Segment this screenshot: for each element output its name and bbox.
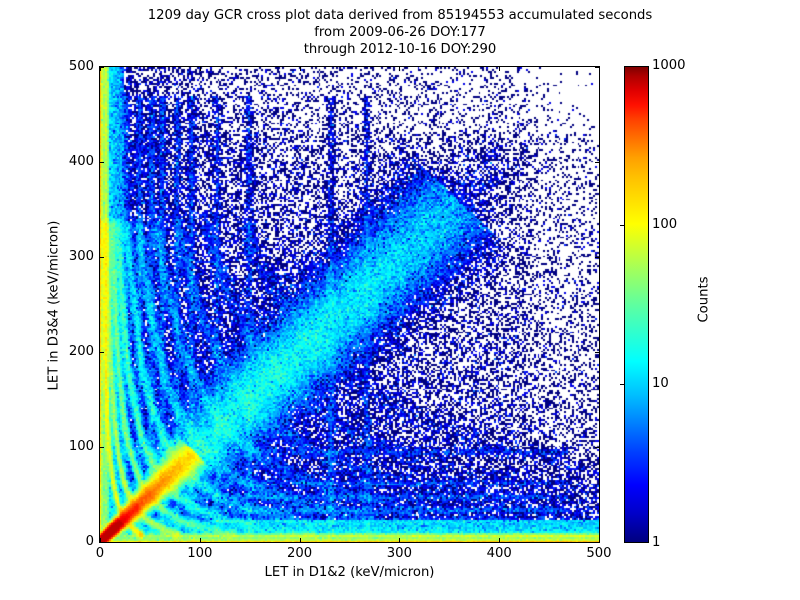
x-tick-label: 100	[170, 546, 230, 561]
x-tick-top	[499, 67, 500, 71]
x-tick-label: 300	[369, 546, 429, 561]
x-tick-bottom	[300, 538, 301, 542]
colorbar-title: Counts	[697, 180, 712, 420]
y-tick-right	[595, 257, 599, 258]
colorbar	[624, 66, 649, 543]
y-tick-left	[100, 447, 104, 448]
chart-title-line-1: 1209 day GCR cross plot data derived fro…	[0, 7, 800, 24]
x-tick-top	[200, 67, 201, 71]
x-axis-title: LET in D1&2 (keV/micron)	[99, 565, 600, 580]
chart-title-line-3: through 2012-10-16 DOY:290	[0, 41, 800, 58]
colorbar-tick-label: 1000	[652, 58, 686, 73]
y-tick-left	[100, 542, 104, 543]
colorbar-tick	[620, 384, 624, 385]
chart-title-line-2: from 2009-06-26 DOY:177	[0, 24, 800, 41]
figure-canvas: 1209 day GCR cross plot data derived fro…	[0, 0, 800, 600]
x-tick-bottom	[399, 538, 400, 542]
y-tick-right	[595, 162, 599, 163]
y-tick-label: 0	[38, 534, 94, 549]
x-tick-top	[599, 67, 600, 71]
x-tick-label: 200	[270, 546, 330, 561]
y-tick-left	[100, 162, 104, 163]
colorbar-tick-label: 10	[652, 376, 669, 391]
y-tick-right	[595, 447, 599, 448]
y-tick-right	[595, 542, 599, 543]
x-tick-top	[399, 67, 400, 71]
colorbar-tick-label: 100	[652, 217, 677, 232]
colorbar-tick	[620, 225, 624, 226]
x-tick-top	[300, 67, 301, 71]
y-tick-left	[100, 67, 104, 68]
y-tick-left	[100, 257, 104, 258]
y-tick-left	[100, 352, 104, 353]
plot-area[interactable]	[99, 66, 600, 543]
chart-title: 1209 day GCR cross plot data derived fro…	[0, 7, 800, 58]
y-axis-title: LET in D3&4 (keV/micron)	[47, 166, 62, 446]
density-scatter-canvas	[100, 67, 599, 542]
y-tick-right	[595, 67, 599, 68]
x-tick-bottom	[599, 538, 600, 542]
x-tick-bottom	[499, 538, 500, 542]
y-tick-right	[595, 352, 599, 353]
x-tick-label: 500	[569, 546, 629, 561]
x-tick-bottom	[200, 538, 201, 542]
y-tick-label: 500	[38, 59, 94, 74]
colorbar-tick-label: 1	[652, 535, 660, 550]
x-tick-label: 400	[469, 546, 529, 561]
